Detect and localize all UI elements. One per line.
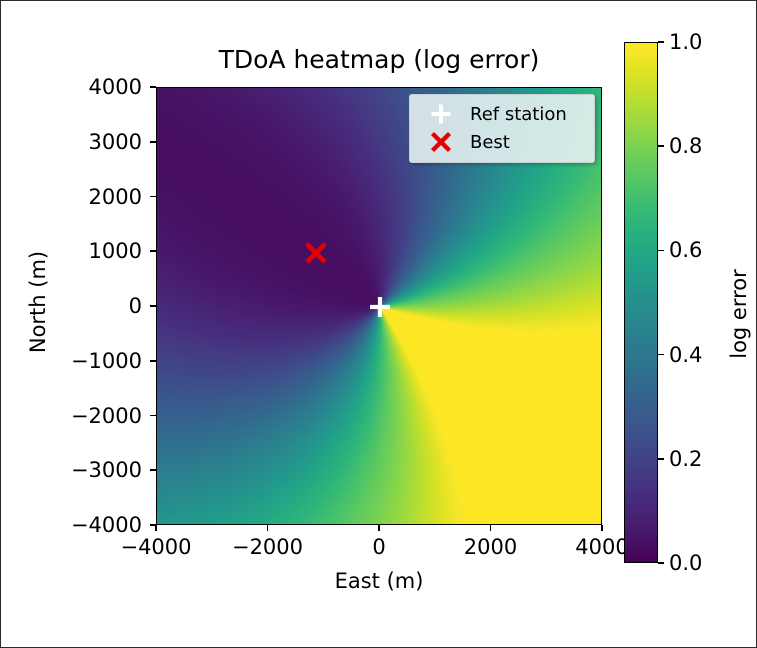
colorbar[interactable] [624,42,658,563]
legend-box[interactable]: Ref station Best [409,94,595,163]
colorbar-tick-mark [658,250,664,252]
x-tick-mark [378,525,380,531]
heatmap-axes[interactable]: Ref station Best [156,87,602,525]
x-marker-icon [418,130,464,154]
colorbar-tick-mark [658,458,664,460]
y-tick-mark [150,86,156,88]
y-tick-mark [150,469,156,471]
y-tick-label: 1000 [1,239,142,263]
x-tick-mark [490,525,492,531]
x-tick-mark [601,525,603,531]
y-tick-label: 0 [1,294,142,318]
colorbar-tick-mark [658,354,664,356]
y-tick-mark [150,141,156,143]
x-tick-mark [155,525,157,531]
y-axis-label: North (m) [26,102,50,502]
y-tick-label: 3000 [1,130,142,154]
colorbar-tick-label: 0.0 [669,551,702,575]
colorbar-tick-label: 0.2 [669,447,702,471]
y-tick-label: −1000 [1,349,142,373]
colorbar-tick-label: 0.6 [669,238,702,262]
page-title: TDoA heatmap (log error) [156,47,602,72]
y-tick-mark [150,196,156,198]
legend-label-best: Best [464,132,510,153]
legend-item-ref-station: Ref station [418,100,586,128]
colorbar-tick-mark [658,41,664,43]
x-tick-label: 4000 [575,535,628,559]
colorbar-tick-label: 1.0 [669,30,702,54]
y-tick-mark [150,305,156,307]
figure-canvas: TDoA heatmap (log error) Ref st [0,0,757,648]
y-tick-mark [150,415,156,417]
x-tick-label: −2000 [232,535,303,559]
x-tick-label: 2000 [464,535,517,559]
x-tick-mark [267,525,269,531]
colorbar-tick-label: 0.4 [669,343,702,367]
y-tick-label: −2000 [1,404,142,428]
colorbar-tick-mark [658,562,664,564]
y-tick-label: 2000 [1,185,142,209]
legend-label-ref-station: Ref station [464,104,567,125]
colorbar-gradient [625,43,658,563]
plus-marker-icon [418,102,464,126]
y-tick-mark [150,250,156,252]
colorbar-tick-label: 0.8 [669,134,702,158]
x-axis-label: East (m) [156,569,602,593]
colorbar-label: log error [727,164,751,464]
y-tick-mark [150,360,156,362]
y-tick-label: −3000 [1,458,142,482]
x-tick-label: 0 [372,535,385,559]
x-tick-label: −4000 [120,535,191,559]
legend-item-best: Best [418,128,586,156]
colorbar-tick-mark [658,145,664,147]
y-tick-label: 4000 [1,75,142,99]
y-tick-label: −4000 [1,513,142,537]
